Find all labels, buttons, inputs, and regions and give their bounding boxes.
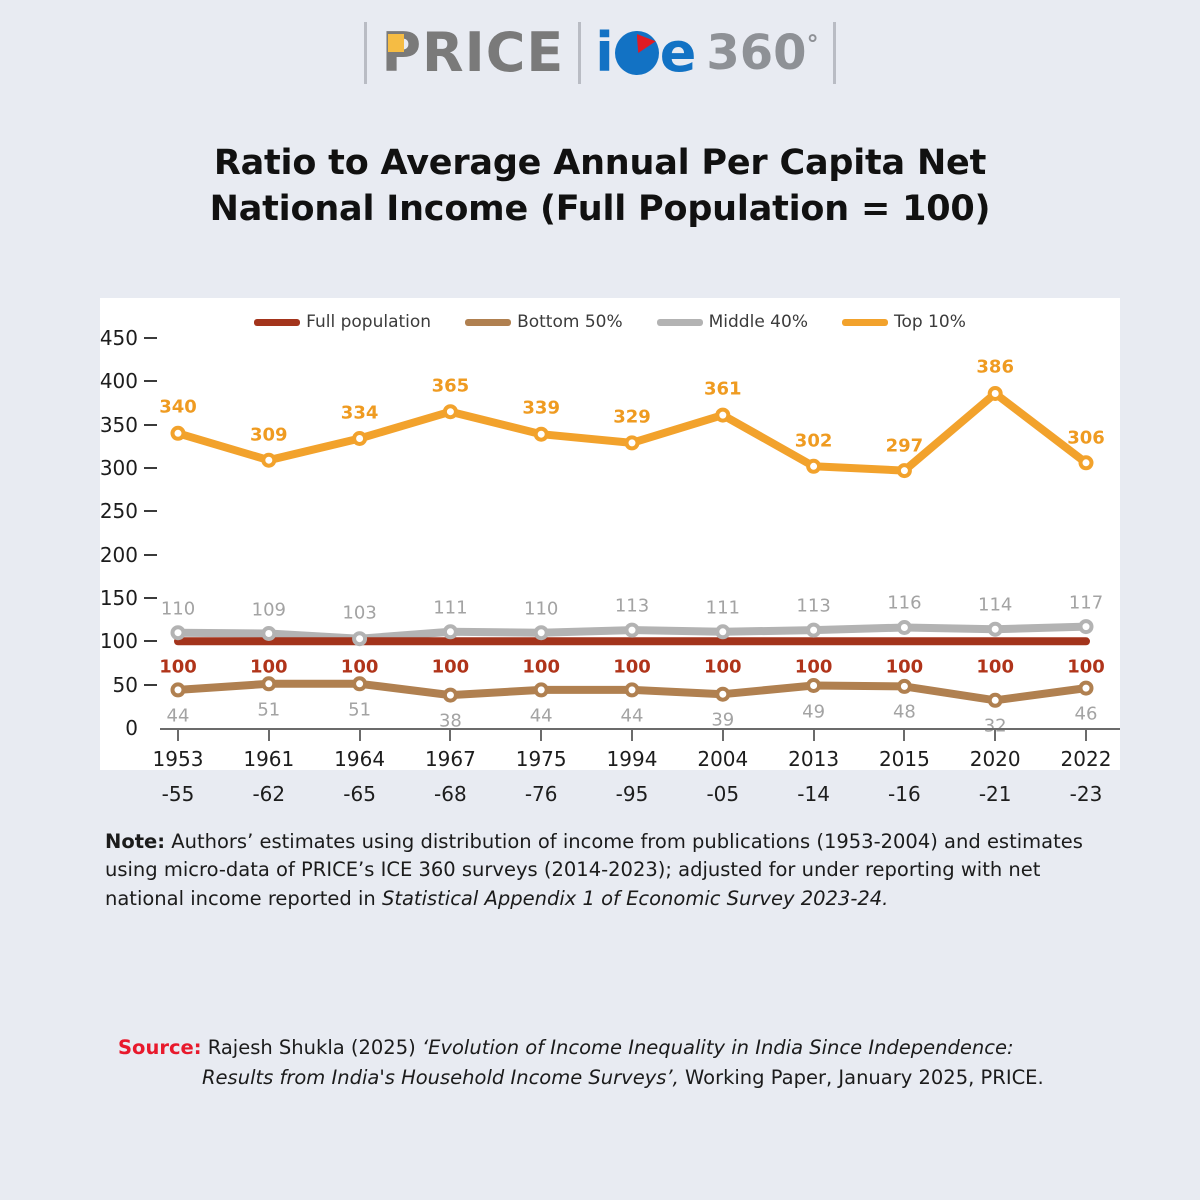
x-axis-label-year-end: -68	[425, 781, 476, 808]
legend-label: Top 10%	[894, 312, 966, 332]
data-point-marker[interactable]	[263, 455, 274, 466]
data-point-marker[interactable]	[717, 410, 728, 421]
page-title-line-1: Ratio to Average Annual Per Capita Net	[0, 140, 1200, 186]
x-axis-label-year-end: -23	[1061, 781, 1112, 808]
logo-divider-middle	[578, 22, 581, 84]
source-block: Source: Rajesh Shukla (2025) ‘Evolution …	[118, 1033, 1118, 1093]
legend-label: Middle 40%	[709, 312, 808, 332]
source-title-part-1: ‘Evolution of Income Inequality in India…	[422, 1036, 1014, 1059]
legend-item-middle-40[interactable]: Middle 40%	[657, 312, 808, 332]
y-axis-tick-label: 300	[100, 456, 138, 480]
chart-panel: Full populationBottom 50%Middle 40%Top 1…	[100, 298, 1120, 770]
source-line-2: Results from India's Household Income Su…	[118, 1063, 1118, 1093]
y-axis-tick-label: 150	[100, 586, 138, 610]
data-point-marker[interactable]	[173, 627, 184, 638]
x-axis-tick-mark	[449, 730, 451, 741]
data-point-marker[interactable]	[717, 689, 728, 700]
y-axis-tick-label: 400	[100, 369, 138, 393]
x-axis-tick-label: 1975-76	[516, 746, 567, 808]
y-axis-tick-label: 0	[125, 716, 138, 740]
price-wordmark: PRICE	[381, 26, 564, 80]
logo-360-number: 360	[706, 25, 806, 81]
y-axis-tick-label: 100	[100, 629, 138, 653]
x-axis-label-year-end: -14	[788, 781, 839, 808]
pie-slice-shape	[637, 34, 656, 53]
y-axis-tick-mark	[144, 380, 157, 382]
data-point-marker[interactable]	[717, 626, 728, 637]
x-axis-tick-mark	[359, 730, 361, 741]
ice-letter-i: i	[595, 26, 614, 80]
note-italic-reference: Statistical Appendix 1 of Economic Surve…	[382, 887, 888, 910]
source-author: Rajesh Shukla (2025)	[202, 1036, 422, 1059]
legend-swatch-icon	[465, 319, 511, 326]
x-axis-tick-mark	[813, 730, 815, 741]
x-axis-label-year-start: 1975	[516, 746, 567, 773]
y-axis-tick-label: 450	[100, 326, 138, 350]
x-axis-label-year-end: -95	[607, 781, 658, 808]
x-axis-label-year-end: -62	[243, 781, 294, 808]
data-point-marker[interactable]	[808, 625, 819, 636]
x-axis-tick-label: 2015-16	[879, 746, 930, 808]
note-block: Note: Authors’ estimates using distribut…	[105, 828, 1115, 913]
x-axis-label-year-start: 1953	[153, 746, 204, 773]
data-point-marker[interactable]	[445, 626, 456, 637]
data-point-marker[interactable]	[899, 465, 910, 476]
x-axis-tick-label: 1994-95	[607, 746, 658, 808]
x-axis-label-year-end: -16	[879, 781, 930, 808]
y-axis-tick-mark	[144, 684, 157, 686]
data-point-marker[interactable]	[1081, 457, 1092, 468]
x-axis-label-year-end: -55	[153, 781, 204, 808]
data-point-marker[interactable]	[263, 678, 274, 689]
series-lines	[160, 338, 1120, 728]
x-axis-label-year-start: 1967	[425, 746, 476, 773]
legend-swatch-icon	[657, 319, 703, 326]
y-axis-tick-mark	[144, 467, 157, 469]
x-axis-tick-mark	[1085, 730, 1087, 741]
data-point-marker[interactable]	[536, 684, 547, 695]
x-axis-tick-label: 2020-21	[970, 746, 1021, 808]
x-axis-label-year-end: -05	[697, 781, 748, 808]
data-point-marker[interactable]	[445, 406, 456, 417]
x-axis-label-year-start: 2015	[879, 746, 930, 773]
legend-item-full-population[interactable]: Full population	[254, 312, 431, 332]
logo-degree-symbol: °	[807, 30, 819, 58]
y-axis-tick-mark	[144, 554, 157, 556]
x-axis-tick-mark	[722, 730, 724, 741]
y-axis-tick-mark	[144, 597, 157, 599]
legend-label: Bottom 50%	[517, 312, 623, 332]
page-title-line-2: National Income (Full Population = 100)	[0, 186, 1200, 232]
data-point-marker[interactable]	[1081, 683, 1092, 694]
x-axis-tick-label: 2004-05	[697, 746, 748, 808]
logo-divider-right	[833, 22, 836, 84]
brand-logo: PRICE i e 360°	[0, 22, 1200, 84]
price-accent-square	[388, 34, 404, 52]
data-point-marker[interactable]	[627, 437, 638, 448]
legend-label: Full population	[306, 312, 431, 332]
data-point-marker[interactable]	[354, 633, 365, 644]
x-axis-tick-label: 1967-68	[425, 746, 476, 808]
data-point-marker[interactable]	[173, 428, 184, 439]
data-point-marker[interactable]	[808, 680, 819, 691]
x-axis-label-year-end: -76	[516, 781, 567, 808]
x-axis-label-year-start: 2004	[697, 746, 748, 773]
x-axis-tick-mark	[994, 730, 996, 741]
data-point-marker[interactable]	[990, 695, 1001, 706]
chart-legend: Full populationBottom 50%Middle 40%Top 1…	[100, 312, 1120, 332]
plot-area: 050100150200250300350400450 340309334365…	[160, 338, 1120, 728]
ice-wordmark: i e 360°	[595, 26, 818, 80]
data-point-marker[interactable]	[899, 681, 910, 692]
source-line-1: Source: Rajesh Shukla (2025) ‘Evolution …	[118, 1033, 1118, 1063]
data-point-marker[interactable]	[354, 678, 365, 689]
x-axis-label-year-start: 1964	[334, 746, 385, 773]
ice-letter-e: e	[660, 26, 697, 80]
x-axis-tick-mark	[177, 730, 179, 741]
source-title-part-2: Results from India's Household Income Su…	[202, 1066, 679, 1089]
data-point-marker[interactable]	[1081, 621, 1092, 632]
data-point-marker[interactable]	[354, 433, 365, 444]
x-axis-tick-mark	[903, 730, 905, 741]
x-axis-tick-mark	[268, 730, 270, 741]
data-point-marker[interactable]	[536, 429, 547, 440]
y-axis-tick-label: 50	[113, 673, 138, 697]
note-label: Note:	[105, 830, 165, 853]
y-axis-tick-mark	[144, 424, 157, 426]
page-title: Ratio to Average Annual Per Capita Net N…	[0, 140, 1200, 232]
x-axis-label-year-start: 1961	[243, 746, 294, 773]
data-point-marker[interactable]	[173, 684, 184, 695]
x-axis-tick-label: 1964-65	[334, 746, 385, 808]
y-axis-tick-label: 350	[100, 413, 138, 437]
x-axis-tick-label: 1961-62	[243, 746, 294, 808]
data-point-marker[interactable]	[627, 625, 638, 636]
x-axis-tick-mark	[540, 730, 542, 741]
y-axis-tick-label: 250	[100, 499, 138, 523]
legend-item-top-10[interactable]: Top 10%	[842, 312, 966, 332]
y-axis-tick-mark	[144, 337, 157, 339]
x-axis-label-year-start: 1994	[607, 746, 658, 773]
x-axis-tick-label: 1953-55	[153, 746, 204, 808]
data-point-marker[interactable]	[990, 624, 1001, 635]
y-axis-tick-mark	[144, 640, 157, 642]
data-point-marker[interactable]	[445, 690, 456, 701]
logo-360-text: 360°	[706, 29, 818, 77]
x-axis-label-year-end: -65	[334, 781, 385, 808]
legend-swatch-icon	[254, 319, 300, 326]
series-line-top-10	[178, 394, 1086, 471]
price-text: PRICE	[381, 26, 564, 80]
y-axis-tick-mark	[144, 510, 157, 512]
x-axis-tick-label: 2022-23	[1061, 746, 1112, 808]
x-axis-label-year-start: 2020	[970, 746, 1021, 773]
x-axis-label-year-end: -21	[970, 781, 1021, 808]
x-axis-line	[160, 728, 1120, 730]
y-axis-tick-label: 200	[100, 543, 138, 567]
data-point-marker[interactable]	[990, 388, 1001, 399]
data-point-marker[interactable]	[263, 628, 274, 639]
data-point-marker[interactable]	[899, 622, 910, 633]
x-axis-label-year-start: 2022	[1061, 746, 1112, 773]
source-publication: Working Paper, January 2025, PRICE.	[679, 1066, 1044, 1089]
x-axis-tick-mark	[631, 730, 633, 741]
source-label: Source:	[118, 1036, 202, 1059]
x-axis-label-year-start: 2013	[788, 746, 839, 773]
x-axis-tick-label: 2013-14	[788, 746, 839, 808]
data-point-marker[interactable]	[808, 461, 819, 472]
pie-chart-icon	[615, 31, 659, 75]
legend-swatch-icon	[842, 319, 888, 326]
data-point-marker[interactable]	[536, 627, 547, 638]
logo-divider-left	[364, 22, 367, 84]
data-point-marker[interactable]	[627, 684, 638, 695]
legend-item-bottom-50[interactable]: Bottom 50%	[465, 312, 623, 332]
